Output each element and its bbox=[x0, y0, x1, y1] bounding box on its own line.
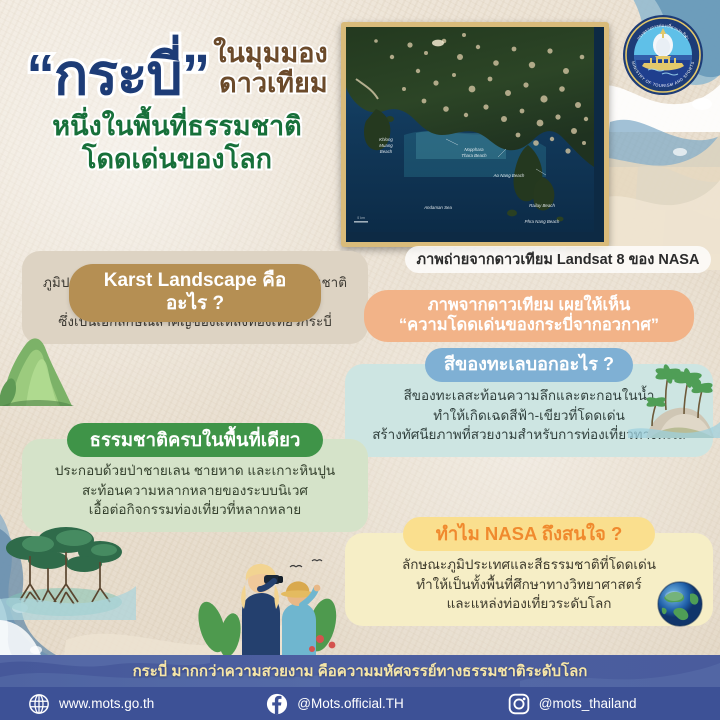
space-heading-line-1: ภาพจากดาวเทียม เผยให้เห็น bbox=[382, 296, 676, 316]
card-nature-all-in-one: ประกอบด้วยป่าชายเลน ชายหาด และเกาะหินปูน… bbox=[22, 423, 368, 532]
card-karst-landscape: ภูมิประเทศหินปูนที่เกิดจากการกัดเซาะตามธ… bbox=[22, 264, 368, 344]
svg-text:Nopphara: Nopphara bbox=[464, 147, 484, 152]
subtitle-line-2: ดาวเทียม bbox=[219, 68, 328, 98]
svg-text:MINISTRY OF TOURISM AND SPORTS: MINISTRY OF TOURISM AND SPORTS bbox=[631, 61, 696, 89]
card-view-from-space: ภาพจากดาวเทียม เผยให้เห็น “ความโดดเด่นขอ… bbox=[345, 290, 713, 342]
title-block: “กระบี่” ในมุมมอง ดาวเทียม หนึ่งในพื้นที… bbox=[12, 38, 342, 176]
banner-slogan: กระบี่ มากกว่าความสวยงาม คือความมหัศจรรย… bbox=[133, 659, 588, 683]
nature-body-line-1: ประกอบด้วยป่าชายเลน ชายหาด และเกาะหินปูน bbox=[36, 461, 354, 481]
nasa-body-line-3: และแหล่งท่องเที่ยวระดับโลก bbox=[359, 594, 699, 614]
green-line-1: หนึ่งในพื้นที่ธรรมชาติ bbox=[52, 111, 301, 141]
website-url: www.mots.go.th bbox=[59, 696, 154, 711]
facebook-handle: @Mots.official.TH bbox=[297, 696, 403, 711]
mangrove-forest-icon bbox=[0, 522, 136, 620]
card-why-nasa-interested: ลักษณะภูมิประเทศและสีธรรมชาติที่โดดเด่น … bbox=[345, 517, 713, 626]
bottom-banner: กระบี่ มากกว่าความสวยงาม คือความมหัศจรรย… bbox=[0, 655, 720, 687]
nature-body-line-2: สะท้อนความหลากหลายของระบบนิเวศ bbox=[36, 481, 354, 501]
nature-body-line-3: เอื้อต่อกิจกรรมท่องเที่ยวที่หลากหลาย bbox=[36, 500, 354, 520]
footer-website[interactable]: www.mots.go.th bbox=[28, 693, 154, 715]
space-heading-line-2: “ความโดดเด่นของกระบี่จากอวกาศ” bbox=[382, 316, 676, 336]
svg-text:Railay Beach: Railay Beach bbox=[529, 203, 555, 208]
sea-body-line-2: ทำให้เกิดเฉดสีฟ้า-เขียวที่โดดเด่น bbox=[359, 406, 699, 426]
satellite-image: Khlong Muang Beach Nopphara Thara Beach … bbox=[341, 22, 609, 247]
footer-facebook[interactable]: @Mots.official.TH bbox=[266, 693, 403, 715]
svg-text:Khlong: Khlong bbox=[379, 137, 393, 142]
card-sea-color: สีของทะเลสะท้อนความลึกและตะกอนในน้ำ ทำให… bbox=[345, 348, 713, 457]
infographic-page: “กระบี่” ในมุมมอง ดาวเทียม หนึ่งในพื้นที… bbox=[0, 0, 720, 720]
subtitle-line-1: ในมุมมอง bbox=[213, 38, 327, 68]
nasa-body-line-2: ทำให้เป็นทั้งพื้นที่ศึกษาทางวิทยาศาสตร์ bbox=[359, 575, 699, 595]
svg-text:Andaman Sea: Andaman Sea bbox=[423, 205, 452, 210]
card-sea-heading: สีของทะเลบอกอะไร ? bbox=[425, 348, 633, 382]
sea-body-line-3: สร้างทัศนียภาพที่สวยงามสำหรับการท่องเที่… bbox=[359, 425, 699, 445]
page-subtitle-satellite: ในมุมมอง ดาวเทียม bbox=[213, 38, 327, 104]
footer-instagram[interactable]: @mots_thailand bbox=[508, 693, 637, 715]
card-nature-heading: ธรรมชาติครบในพื้นที่เดียว bbox=[67, 423, 323, 457]
footer-bar: www.mots.go.th @Mots.official.TH @mots_t… bbox=[0, 687, 720, 720]
svg-text:Thara Beach: Thara Beach bbox=[461, 153, 487, 158]
green-line-2: โดดเด่นของโลก bbox=[82, 144, 272, 174]
svg-text:Ao Nang Beach: Ao Nang Beach bbox=[493, 173, 525, 178]
tourists-with-binoculars-illustration bbox=[190, 555, 350, 657]
nasa-body-line-1: ลักษณะภูมิประเทศและสีธรรมชาติที่โดดเด่น bbox=[359, 555, 699, 575]
card-karst-heading: Karst Landscape คืออะไร ? bbox=[69, 264, 321, 322]
sea-body-line-1: สีของทะเลสะท้อนความลึกและตะกอนในน้ำ bbox=[359, 386, 699, 406]
title-row-primary: “กระบี่” ในมุมมอง ดาวเทียม bbox=[12, 38, 342, 104]
card-space-heading: ภาพจากดาวเทียม เผยให้เห็น “ความโดดเด่นขอ… bbox=[364, 290, 694, 342]
svg-text:Muang: Muang bbox=[379, 143, 393, 148]
satellite-caption: ภาพถ่ายจากดาวเทียม Landsat 8 ของ NASA bbox=[405, 246, 711, 273]
svg-text:Phra Nang Beach: Phra Nang Beach bbox=[525, 219, 560, 224]
card-nasa-heading: ทำไม NASA ถึงสนใจ ? bbox=[403, 517, 655, 551]
page-title-krabi: “กระบี่” bbox=[26, 47, 209, 104]
instagram-handle: @mots_thailand bbox=[539, 696, 637, 711]
page-subtitle-nature: หนึ่งในพื้นที่ธรรมชาติ โดดเด่นของโลก bbox=[12, 110, 342, 176]
instagram-icon bbox=[508, 693, 530, 715]
globe-icon bbox=[28, 693, 50, 715]
svg-text:กระทรวงการท่องเที่ยวและกีฬา: กระทรวงการท่องเที่ยวและกีฬา bbox=[636, 22, 690, 40]
facebook-icon bbox=[266, 693, 288, 715]
ministry-of-tourism-and-sports-logo: กระทรวงการท่องเที่ยวและกีฬา MINISTRY OF … bbox=[622, 14, 704, 96]
svg-text:Beach: Beach bbox=[380, 149, 393, 154]
svg-text:5 km: 5 km bbox=[357, 216, 365, 220]
